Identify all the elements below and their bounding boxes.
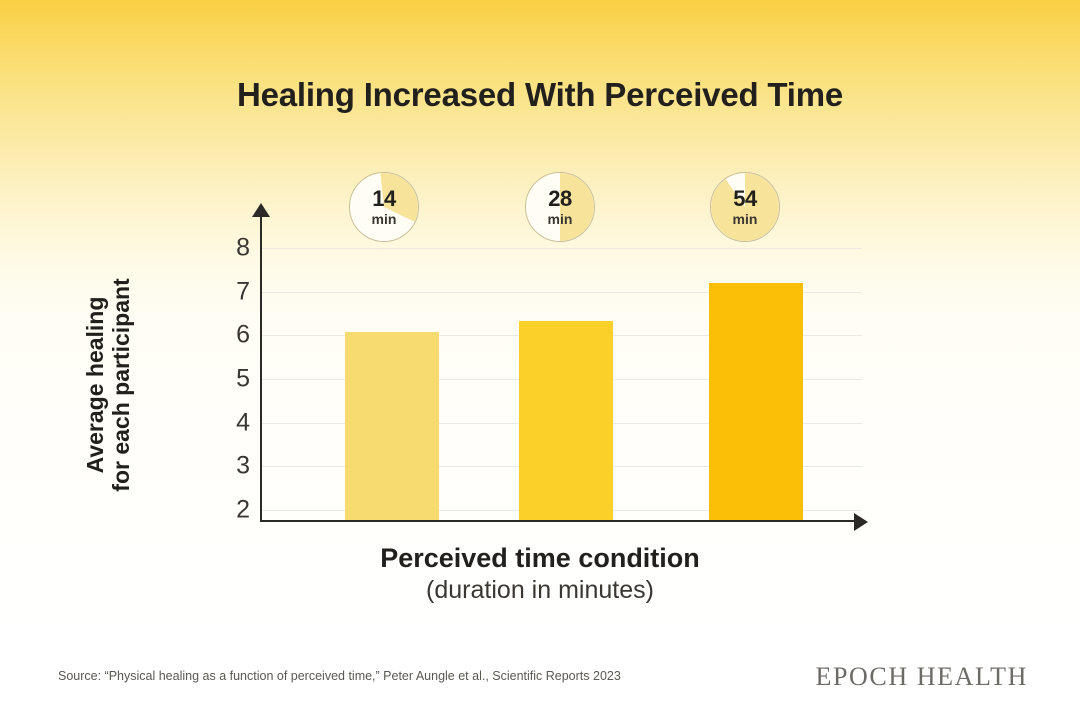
bar-28min[interactable] bbox=[519, 321, 613, 520]
clock-label-54min: 54 min bbox=[711, 173, 779, 241]
x-axis-line bbox=[260, 520, 856, 522]
y-axis-title: Average healing for each participant bbox=[82, 245, 146, 525]
y-axis-title-line1: Average healing bbox=[82, 245, 108, 525]
bar-54min[interactable] bbox=[709, 283, 803, 520]
bar-14min[interactable] bbox=[345, 332, 439, 520]
plot-area bbox=[262, 248, 862, 520]
x-axis-title-main: Perceived time condition bbox=[0, 543, 1080, 574]
y-tick-label-7: 7 bbox=[210, 277, 250, 306]
y-tick-label-8: 8 bbox=[210, 234, 250, 263]
x-axis-arrow-icon bbox=[854, 513, 868, 531]
y-axis-arrow-icon bbox=[252, 203, 270, 217]
x-axis-title: Perceived time condition (duration in mi… bbox=[0, 543, 1080, 605]
clock-unit-28: min bbox=[548, 212, 573, 226]
page-title: Healing Increased With Perceived Time bbox=[0, 76, 1080, 114]
y-tick-label-3: 3 bbox=[210, 452, 250, 481]
clock-label-28min: 28 min bbox=[526, 173, 594, 241]
y-tick-label-2: 2 bbox=[210, 496, 250, 525]
y-axis-line bbox=[260, 214, 262, 522]
clock-number-14: 14 bbox=[372, 188, 395, 210]
y-axis-ticks: 8 7 6 5 4 3 2 bbox=[198, 0, 250, 720]
clock-number-54: 54 bbox=[733, 188, 756, 210]
y-axis-title-line2: for each participant bbox=[108, 245, 134, 525]
clock-number-28: 28 bbox=[548, 188, 571, 210]
gridline-8 bbox=[262, 248, 862, 249]
clock-unit-54: min bbox=[733, 212, 758, 226]
y-tick-label-5: 5 bbox=[210, 365, 250, 394]
y-tick-label-6: 6 bbox=[210, 321, 250, 350]
x-axis-title-sub: (duration in minutes) bbox=[0, 576, 1080, 605]
clock-icon-54min: 54 min bbox=[710, 172, 780, 242]
clock-label-14min: 14 min bbox=[350, 173, 418, 241]
clock-icon-14min: 14 min bbox=[349, 172, 419, 242]
source-note: Source: “Physical healing as a function … bbox=[58, 669, 621, 683]
clock-icon-28min: 28 min bbox=[525, 172, 595, 242]
infographic-canvas: Healing Increased With Perceived Time 14… bbox=[0, 0, 1080, 720]
brand-logo: EPOCH HEALTH bbox=[815, 662, 1028, 692]
y-tick-label-4: 4 bbox=[210, 408, 250, 437]
clock-unit-14: min bbox=[372, 212, 397, 226]
